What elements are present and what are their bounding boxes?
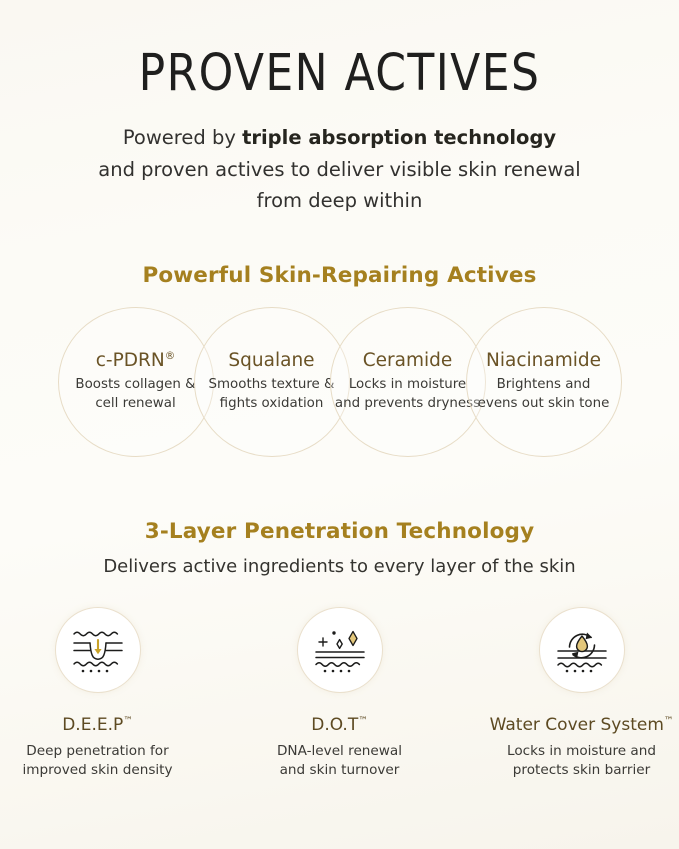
- active-name-text: Squalane: [228, 350, 314, 371]
- active-name: Squalane: [228, 350, 314, 371]
- hero-subtitle: Powered by triple absorption technology …: [60, 122, 620, 217]
- hero-subtitle-line-1-prefix: Powered by: [123, 126, 242, 149]
- technology-description: Locks in moisture and protects skin barr…: [482, 742, 679, 780]
- active-description-line-1: Boosts collagen &: [60, 376, 212, 395]
- arrow-head-top-icon: [585, 632, 592, 639]
- technology-name: Water Cover System™: [490, 715, 674, 735]
- active-name-text: c-PDRN: [96, 350, 165, 371]
- technology-description-line-1: DNA-level renewal: [245, 742, 435, 761]
- layers-section: 3-Layer Penetration Technology Delivers …: [0, 519, 679, 780]
- technology-description: Deep penetration for improved skin densi…: [3, 742, 193, 780]
- active-description: Locks in moisture and prevents dryness: [332, 376, 484, 413]
- technology-item-deep: D.E.E.P™ Deep penetration for improved s…: [8, 607, 188, 780]
- sparkle-plus-icon: [319, 638, 327, 646]
- skin-dots: [81, 670, 108, 673]
- technology-item-water-cover-system: Water Cover System™ Locks in moisture an…: [492, 607, 672, 780]
- active-circle-c-pdrn: c-PDRN® Boosts collagen & cell renewal: [58, 307, 214, 457]
- active-circle-ceramide: Ceramide Locks in moisture and prevents …: [330, 307, 486, 457]
- active-description-line-1: Locks in moisture: [332, 376, 484, 395]
- hero-subtitle-line-2: and proven actives to deliver visible sk…: [60, 154, 620, 186]
- active-description-line-2: and prevents dryness: [332, 395, 484, 414]
- skin-dots: [323, 670, 350, 673]
- trademark-icon: ™: [358, 715, 368, 726]
- active-description-line-2: fights oxidation: [196, 395, 348, 414]
- actives-heading: Powerful Skin-Repairing Actives: [0, 263, 679, 288]
- active-name: Niacinamide: [486, 350, 601, 371]
- technology-name-text: D.O.T: [311, 715, 358, 735]
- active-name: Ceramide: [363, 350, 453, 371]
- technology-description: DNA-level renewal and skin turnover: [245, 742, 435, 780]
- water-droplet-cycle-icon: [554, 625, 610, 675]
- sparkle-diamond-filled-icon: [349, 631, 357, 645]
- actives-circle-row: c-PDRN® Boosts collagen & cell renewal S…: [0, 307, 679, 459]
- technology-icon-circle: [297, 607, 383, 693]
- technology-description-line-1: Deep penetration for: [3, 742, 193, 761]
- page-title: PROVEN ACTIVES: [14, 0, 666, 101]
- technology-name: D.O.T™: [311, 715, 367, 735]
- skin-dots: [565, 670, 592, 673]
- technology-name-text: Water Cover System: [490, 715, 664, 735]
- technology-row: D.E.E.P™ Deep penetration for improved s…: [0, 607, 679, 780]
- trademark-icon: ™: [664, 715, 674, 726]
- active-name: c-PDRN®: [96, 350, 175, 371]
- infographic-page: PROVEN ACTIVES Powered by triple absorpt…: [0, 0, 679, 849]
- hero-subtitle-line-1: Powered by triple absorption technology: [60, 122, 620, 154]
- sparkle-diamond-outline-icon: [337, 639, 342, 648]
- active-description-line-1: Smooths texture &: [196, 376, 348, 395]
- technology-icon-circle: [55, 607, 141, 693]
- active-description: Brightens and evens out skin tone: [468, 376, 620, 413]
- registered-trademark-icon: ®: [165, 350, 176, 362]
- layers-subheading: Delivers active ingredients to every lay…: [0, 556, 679, 577]
- trademark-icon: ™: [123, 715, 133, 726]
- active-name-text: Ceramide: [363, 350, 453, 371]
- sparkle-renewal-icon: [312, 625, 368, 675]
- technology-name-text: D.E.E.P: [62, 715, 123, 735]
- hero-subtitle-emphasis: triple absorption technology: [242, 126, 556, 149]
- hero-subtitle-line-3: from deep within: [60, 185, 620, 217]
- active-description-line-2: evens out skin tone: [468, 395, 620, 414]
- downward-arrow-icon: [94, 640, 101, 654]
- active-circle-squalane: Squalane Smooths texture & fights oxidat…: [194, 307, 350, 457]
- active-circle-niacinamide: Niacinamide Brightens and evens out skin…: [466, 307, 622, 457]
- technology-item-dot: D.O.T™ DNA-level renewal and skin turnov…: [250, 607, 430, 780]
- technology-description-line-2: and skin turnover: [245, 761, 435, 780]
- active-description-line-1: Brightens and: [468, 376, 620, 395]
- sparkles-group: [319, 631, 357, 648]
- active-description: Boosts collagen & cell renewal: [60, 376, 212, 413]
- active-name-text: Niacinamide: [486, 350, 601, 371]
- skin-penetration-arrow-icon: [70, 625, 126, 675]
- technology-name: D.E.E.P™: [62, 715, 133, 735]
- technology-description-line-2: improved skin density: [3, 761, 193, 780]
- technology-description-line-2: protects skin barrier: [482, 761, 679, 780]
- active-description-line-2: cell renewal: [60, 395, 212, 414]
- layers-heading: 3-Layer Penetration Technology: [0, 519, 679, 544]
- sparkle-dot-icon: [332, 631, 335, 634]
- active-description: Smooths texture & fights oxidation: [196, 376, 348, 413]
- technology-icon-circle: [539, 607, 625, 693]
- technology-description-line-1: Locks in moisture and: [482, 742, 679, 761]
